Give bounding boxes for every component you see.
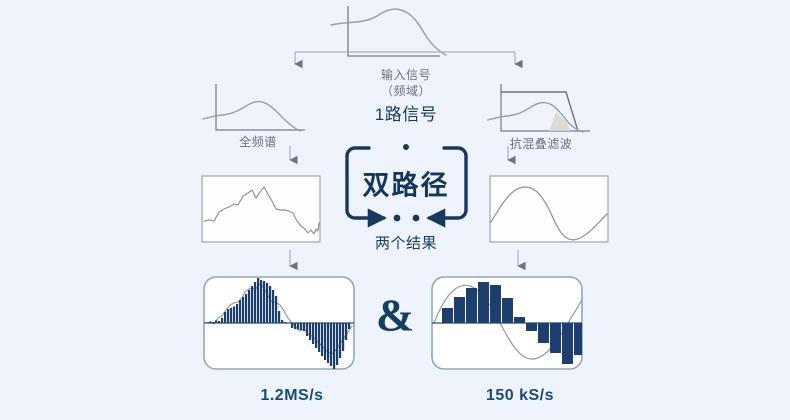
diagram-text-layer: 输入信号 （频域） 1路信号 全频谱 抗混叠滤波 双路径 两个结果 & 1.2M…: [0, 0, 790, 420]
input-signal-caption-line1: 输入信号: [381, 66, 431, 83]
two-results-label: 两个结果: [375, 232, 437, 253]
full-spectrum-caption: 全频谱: [239, 133, 277, 150]
high-rate-label: 1.2MS/s: [260, 387, 323, 405]
input-signal-caption-line2: （频域）: [381, 82, 431, 99]
low-rate-label: 150 kS/s: [486, 387, 554, 405]
dual-path-badge-text: 双路径: [363, 164, 450, 203]
anti-alias-filter-caption: 抗混叠滤波: [510, 135, 573, 152]
channel-count-label: 1路信号: [375, 100, 437, 125]
ampersand-separator: &: [376, 289, 414, 342]
diagram-canvas: 输入信号 （频域） 1路信号 全频谱 抗混叠滤波 双路径 两个结果 & 1.2M…: [0, 0, 790, 420]
